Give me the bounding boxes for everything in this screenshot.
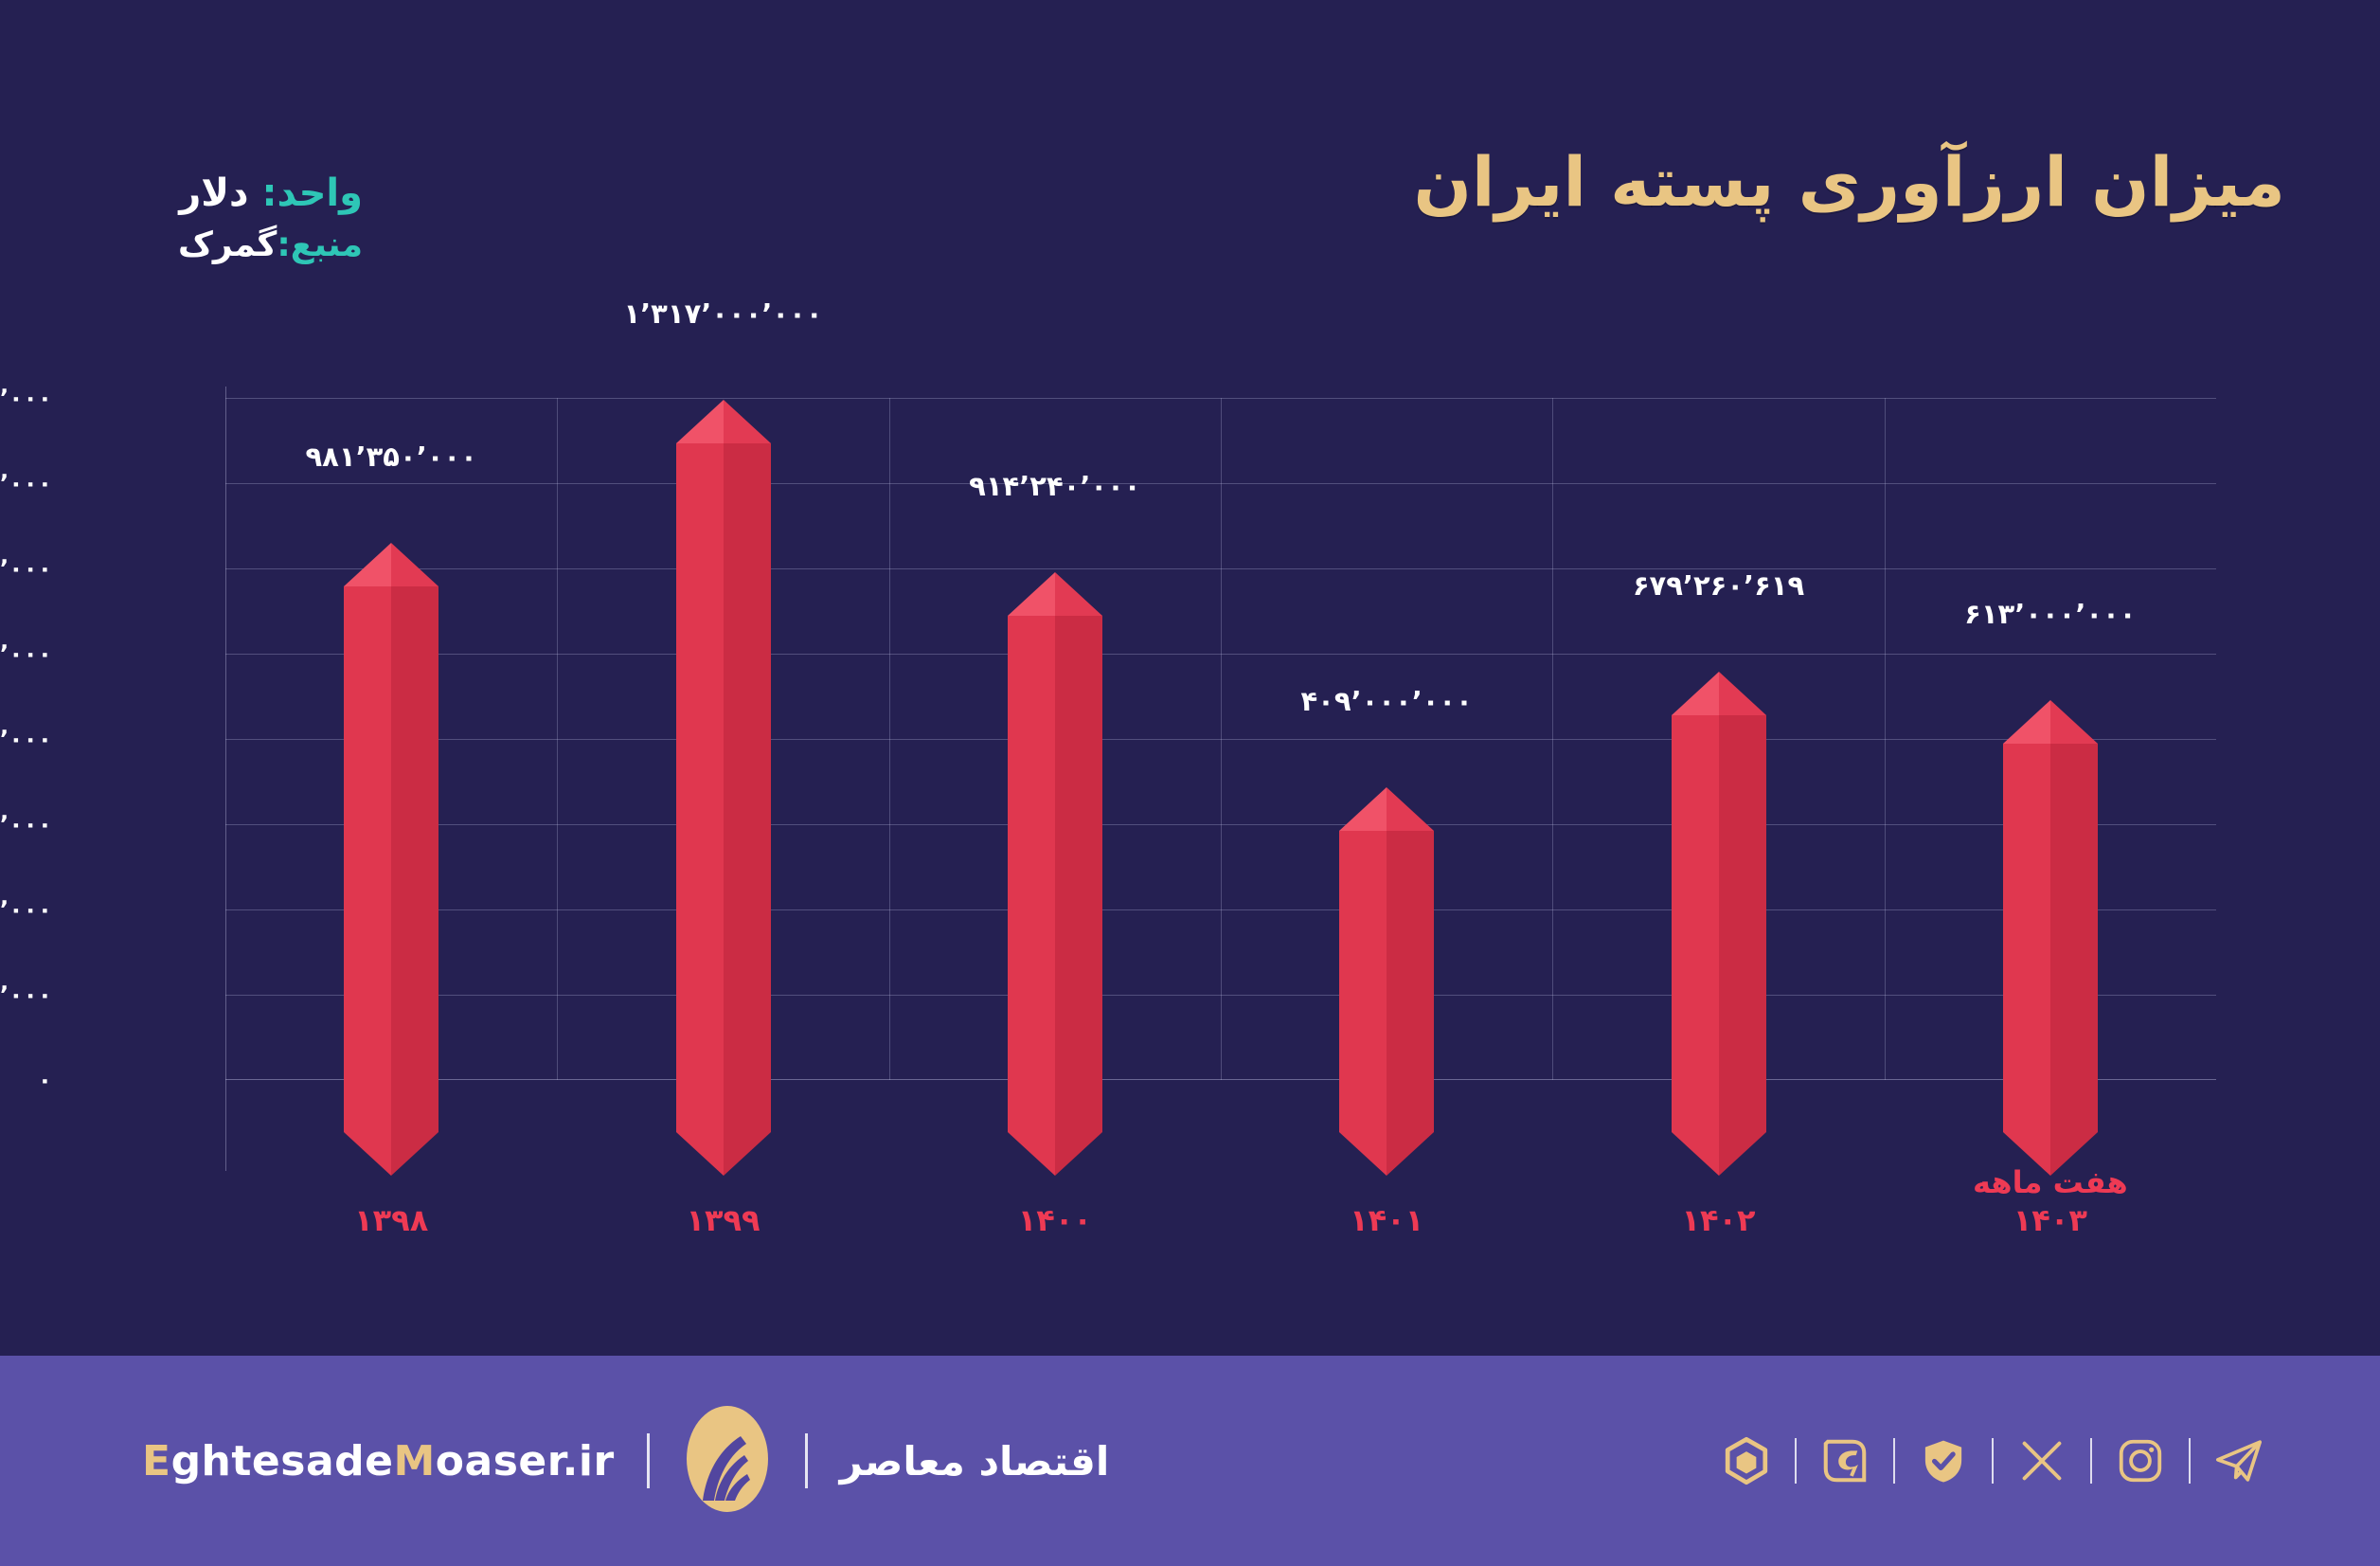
bar-pyramid-cap (1008, 572, 1102, 616)
bar-column[interactable] (2003, 700, 2098, 1132)
y-axis-line (225, 387, 226, 1171)
bar-face-right (1387, 831, 1434, 1132)
bar-group[interactable]: ۹۱۴٬۲۴۰٬۰۰۰۱۴۰۰ (1008, 398, 1102, 1080)
divider (1992, 1438, 1994, 1484)
cap-face-left (1008, 572, 1055, 616)
x-axis-category-label: ۱۴۰۲ (1681, 1201, 1755, 1239)
cap-face-left (1672, 672, 1719, 715)
foot-face-right (1719, 1132, 1766, 1176)
bar-pyramid-foot (676, 1132, 771, 1176)
source-line: منبع:گمرک (178, 223, 363, 268)
source-value: گمرک (178, 225, 277, 264)
telegram-icon[interactable] (2211, 1433, 2266, 1488)
bar-face-left (1672, 715, 1719, 1132)
bar-pyramid-cap (1339, 787, 1434, 831)
foot-face-right (724, 1132, 771, 1176)
bar-column[interactable] (1008, 572, 1102, 1132)
bar-value-label: ۶۱۳٬۰۰۰٬۰۰۰ (1964, 598, 2136, 630)
brand-en-ghtesade: ghtesade (171, 1437, 394, 1485)
bar-pyramid-foot (344, 1132, 438, 1176)
instagram-icon[interactable] (2113, 1433, 2168, 1488)
category-line: هفت ماهه (1973, 1163, 2128, 1201)
bar-shaft (1339, 831, 1434, 1132)
category-line: ۱۴۰۱ (1350, 1201, 1423, 1239)
chart-meta-block: واحد: دلار منبع:گمرک (178, 169, 363, 267)
vertical-gridline (557, 398, 558, 1080)
cap-face-left (2003, 700, 2050, 744)
brand-name-en: EghtesadeMoaser.ir (142, 1437, 615, 1485)
foot-face-right (391, 1132, 438, 1176)
brand-en-e: E (142, 1437, 171, 1485)
x-twitter-icon[interactable] (2014, 1433, 2069, 1488)
unit-line: واحد: دلار (178, 169, 363, 219)
divider (1893, 1438, 1895, 1484)
category-line: ۱۴۰۲ (1681, 1201, 1755, 1239)
bar-pyramid-cap (344, 543, 438, 586)
y-tick-label: ۱۰۰٬۰۰۰٬۰۰۰ (0, 896, 52, 924)
bar-shaft (2003, 744, 2098, 1132)
vertical-gridline (1552, 398, 1553, 1080)
bar-group[interactable]: ۴۰۹٬۰۰۰٬۰۰۰۱۴۰۱ (1339, 398, 1434, 1080)
cap-face-left (676, 400, 724, 443)
bar-column[interactable] (1339, 787, 1434, 1132)
bar-face-right (1055, 616, 1102, 1132)
unit-value: دلار (179, 171, 248, 215)
cap-face-right (1719, 672, 1766, 715)
bar-pyramid-cap (1672, 672, 1766, 715)
cap-face-left (1339, 787, 1387, 831)
y-tick-label: ۱٬۲۰۰٬۰۰۰٬۰۰۰ (0, 385, 52, 412)
x-axis-category-label: ۱۳۹۸ (354, 1201, 428, 1239)
cap-face-right (724, 400, 771, 443)
foot-face-left (676, 1132, 724, 1176)
bar-face-right (391, 586, 438, 1132)
bar-pyramid-cap (2003, 700, 2098, 744)
bar-pyramid-foot (1672, 1132, 1766, 1176)
divider (2189, 1438, 2191, 1484)
y-tick-label: ۱٬۰۰۰٬۰۰۰٬۰۰۰ (0, 470, 52, 497)
bar-group[interactable]: ۹۸۱٬۳۵۰٬۰۰۰۱۳۹۸ (344, 398, 438, 1080)
bar-face-left (676, 443, 724, 1132)
bar-face-right (1719, 715, 1766, 1132)
bale-icon[interactable] (1916, 1433, 1971, 1488)
foot-face-left (344, 1132, 391, 1176)
eghtesade-moaser-logo (682, 1402, 773, 1520)
x-axis-category-label: ۱۳۹۹ (686, 1201, 760, 1239)
vertical-gridline (1885, 398, 1886, 1080)
footer-brand: اقتصاد معاصر EghtesadeMoaser.ir (142, 1356, 1109, 1566)
bar-value-label: ۶۷۹٬۲۶۰٬۶۱۹ (1633, 569, 1804, 602)
cap-face-left (344, 543, 391, 586)
bar-face-right (724, 443, 771, 1132)
y-tick-label: ۵۰٬۰۰۰٬۰۰۰ (0, 981, 52, 1009)
foot-face-left (1672, 1132, 1719, 1176)
category-line: ۱۴۰۰ (1018, 1201, 1092, 1239)
foot-face-left (1008, 1132, 1055, 1176)
y-tick-label: ۸۰۰٬۰۰۰٬۰۰۰ (0, 555, 52, 583)
divider (1795, 1438, 1797, 1484)
social-links (1719, 1356, 2266, 1566)
x-axis-category-label: ۱۴۰۱ (1350, 1201, 1423, 1239)
vertical-gridline (1221, 398, 1222, 1080)
bar-column[interactable] (676, 400, 771, 1132)
divider (647, 1433, 650, 1488)
bar-column[interactable] (1672, 672, 1766, 1132)
source-label: منبع: (277, 225, 363, 264)
bar-group[interactable]: ۶۷۹٬۲۶۰٬۶۱۹۱۴۰۲ (1672, 398, 1766, 1080)
rubika-icon[interactable] (1719, 1433, 1774, 1488)
bar-shaft (1672, 715, 1766, 1132)
unit-label: واحد: (261, 171, 363, 215)
cap-face-right (391, 543, 438, 586)
bar-value-label: ۹۱۴٬۲۴۰٬۰۰۰ (969, 470, 1140, 502)
bar-face-left (1339, 831, 1387, 1132)
brand-en-tld: .ir (563, 1437, 615, 1485)
vertical-gridline (889, 398, 890, 1080)
divider (2090, 1438, 2092, 1484)
cap-face-right (1055, 572, 1102, 616)
y-tick-label: ۴۰۰٬۰۰۰٬۰۰۰ (0, 726, 52, 753)
chart-plot-area: ۰۵۰٬۰۰۰٬۰۰۰۱۰۰٬۰۰۰٬۰۰۰۲۰۰٬۰۰۰٬۰۰۰۴۰۰٬۰۰۰… (225, 398, 2216, 1080)
bar-pyramid-foot (1008, 1132, 1102, 1176)
brand-en-m: M (393, 1437, 435, 1485)
bar-shaft (1008, 616, 1102, 1132)
foot-face-right (1387, 1132, 1434, 1176)
foot-face-right (1055, 1132, 1102, 1176)
bar-shaft (344, 586, 438, 1132)
footer-bar: اقتصاد معاصر EghtesadeMoaser.ir (0, 1356, 2380, 1566)
cap-face-right (2050, 700, 2098, 744)
bar-value-label: ۴۰۹٬۰۰۰٬۰۰۰ (1300, 685, 1472, 717)
foot-face-left (1339, 1132, 1387, 1176)
bar-column[interactable] (344, 543, 438, 1132)
x-axis-category-label: ۱۴۰۰ (1018, 1201, 1092, 1239)
bar-face-left (1008, 616, 1055, 1132)
category-line: ۱۳۹۸ (354, 1201, 428, 1239)
cap-face-right (1387, 787, 1434, 831)
divider (805, 1433, 808, 1488)
bar-group[interactable]: ۱٬۳۱۷٬۰۰۰٬۰۰۰۱۳۹۹ (676, 398, 771, 1080)
brand-en-oaser: oaser (436, 1437, 563, 1485)
y-tick-label: ۲۰۰٬۰۰۰٬۰۰۰ (0, 811, 52, 838)
y-tick-label: ۶۰۰٬۰۰۰٬۰۰۰ (0, 640, 52, 668)
eitaa-icon[interactable] (1817, 1433, 1872, 1488)
bar-group[interactable]: ۶۱۳٬۰۰۰٬۰۰۰هفت ماهه۱۴۰۳ (2003, 398, 2098, 1080)
bar-face-left (344, 586, 391, 1132)
brand-name-fa: اقتصاد معاصر (840, 1438, 1110, 1485)
bar-face-left (2003, 744, 2050, 1132)
y-tick-label: ۰ (38, 1067, 52, 1094)
bar-pyramid-cap (676, 400, 771, 443)
bar-shaft (676, 443, 771, 1132)
category-line: ۱۴۰۳ (1973, 1201, 2128, 1239)
bar-value-label: ۹۸۱٬۳۵۰٬۰۰۰ (305, 441, 476, 473)
bar-pyramid-foot (1339, 1132, 1434, 1176)
bar-value-label: ۱٬۳۱۷٬۰۰۰٬۰۰۰ (623, 297, 822, 330)
x-axis-category-label: هفت ماهه۱۴۰۳ (1973, 1163, 2128, 1239)
category-line: ۱۳۹۹ (686, 1201, 760, 1239)
bar-face-right (2050, 744, 2098, 1132)
chart-title: میزان ارزآوری پسته ایران (1413, 142, 2285, 222)
